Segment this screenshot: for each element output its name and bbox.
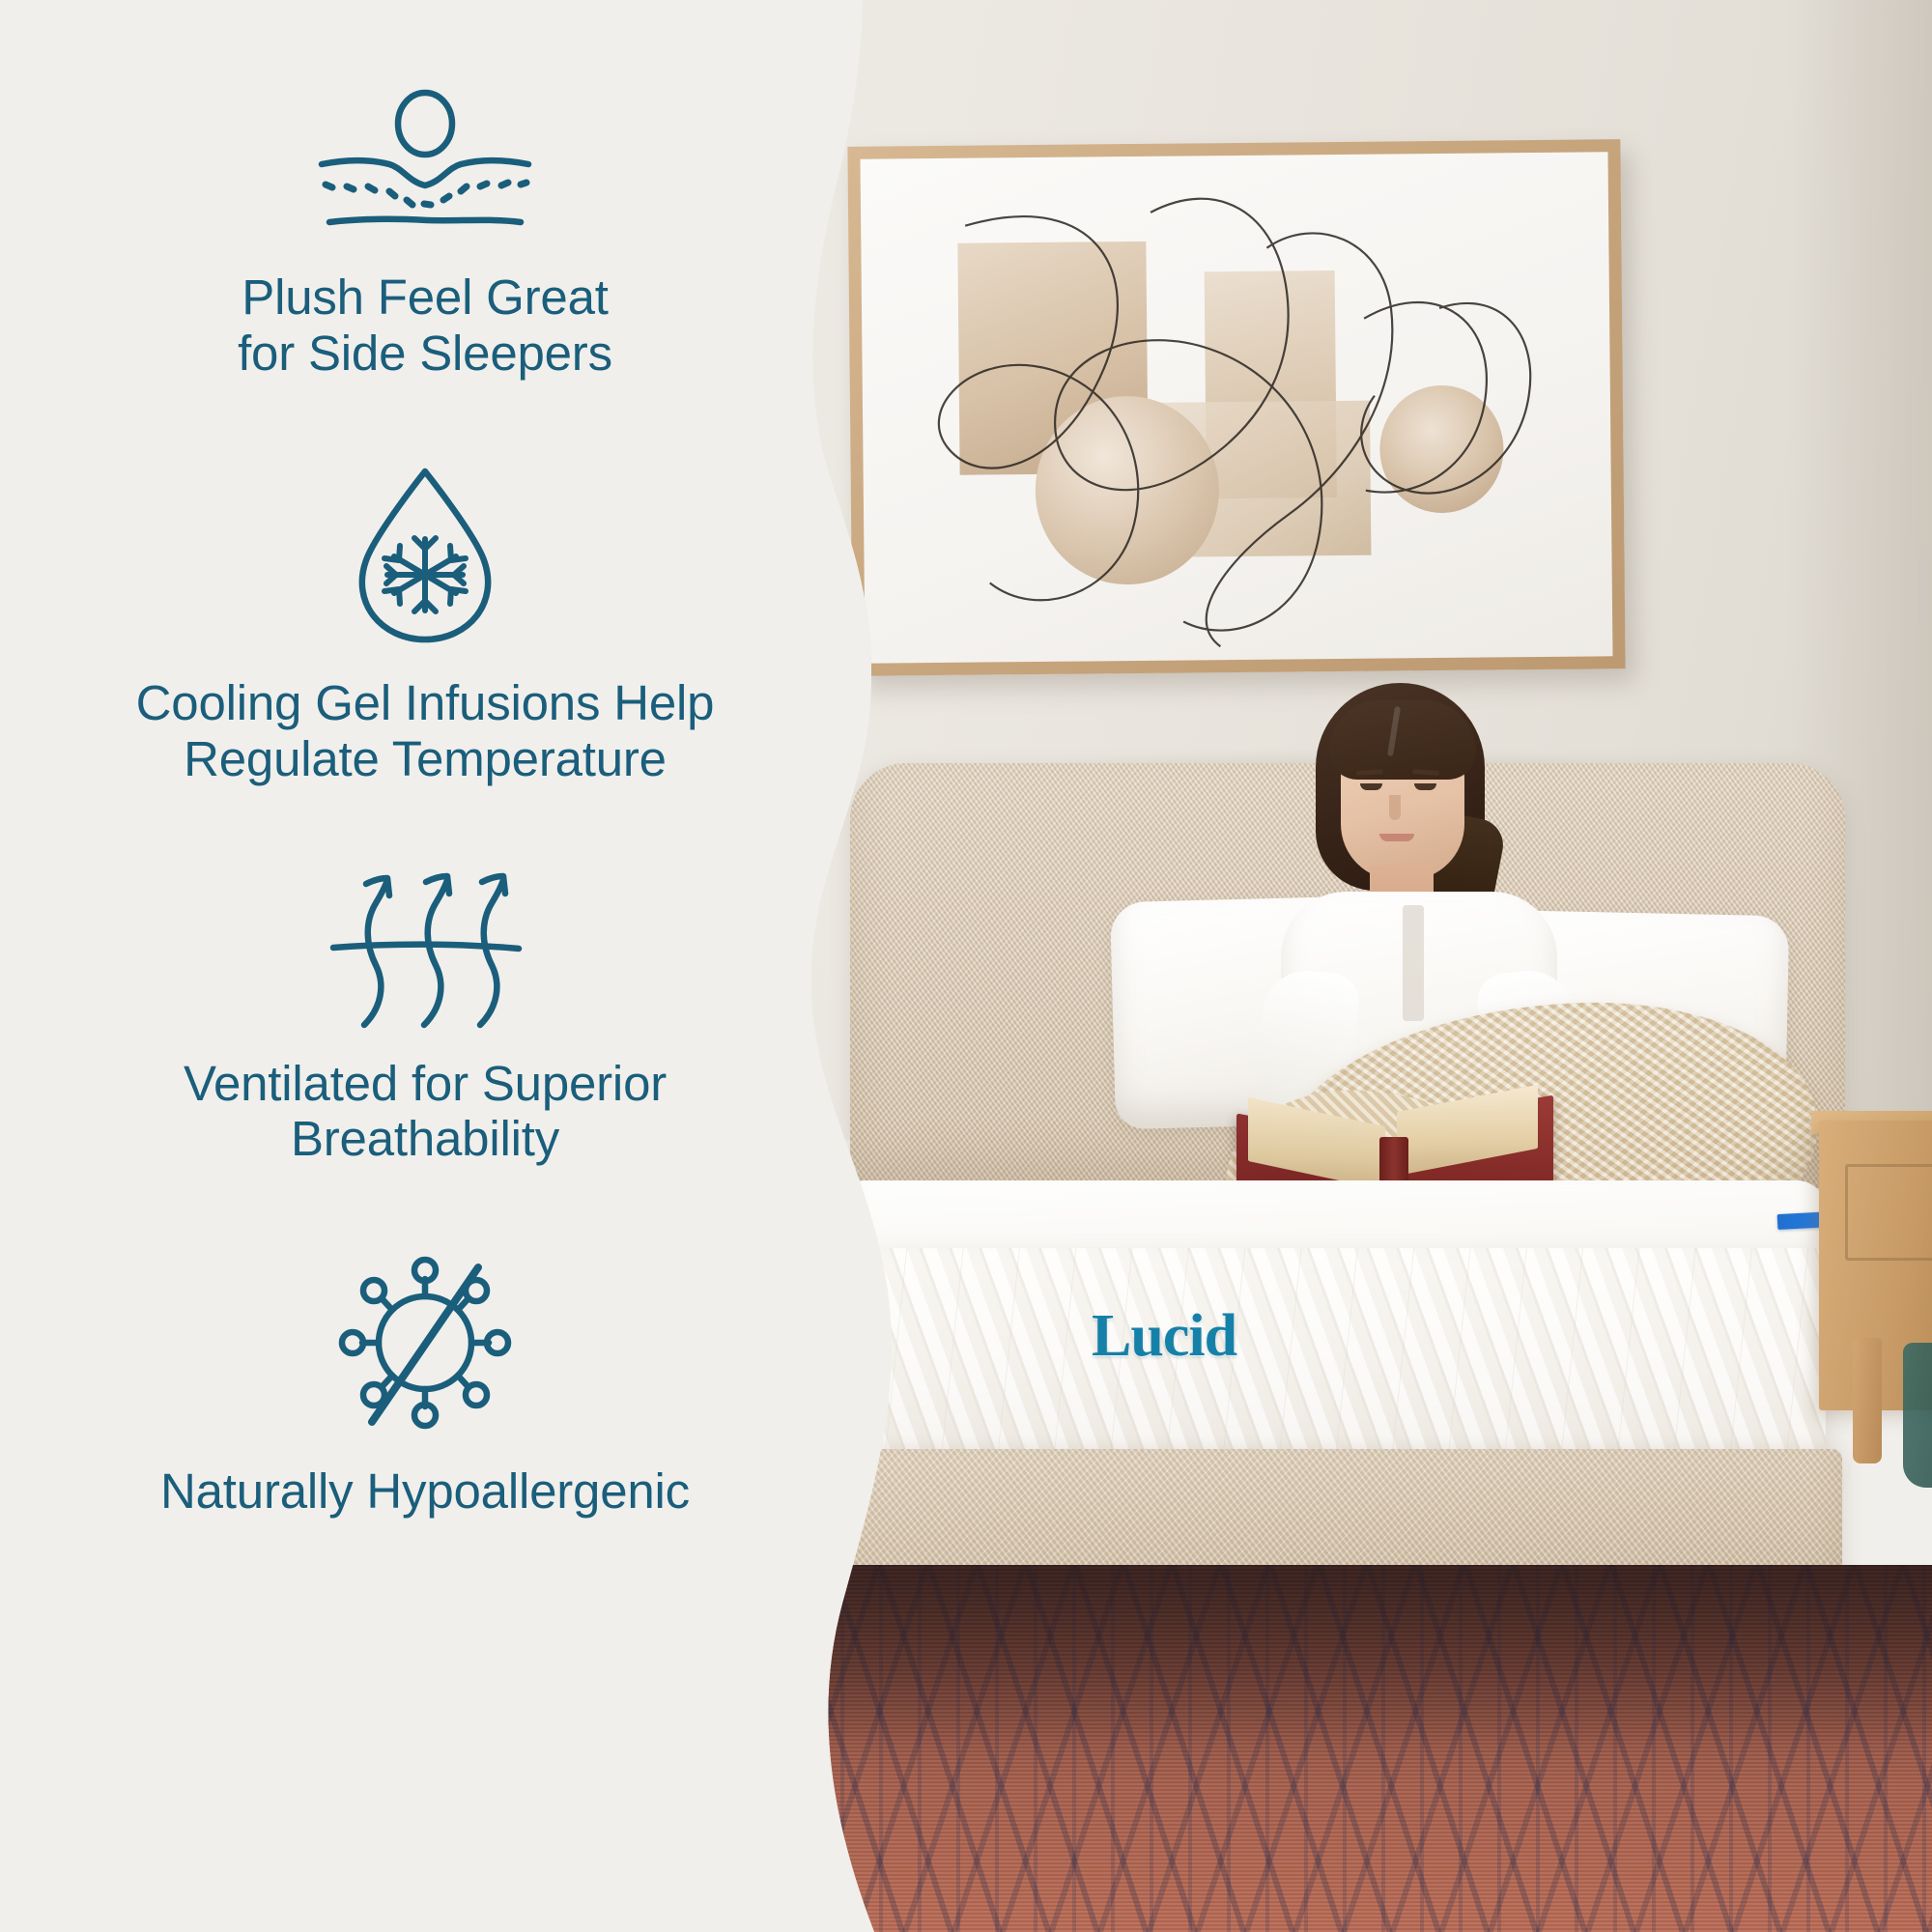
feature-label: Ventilated for Superior Breathability bbox=[184, 1056, 667, 1167]
lucid-logo: Lucid bbox=[1092, 1302, 1236, 1371]
sink-in-mattress-icon bbox=[314, 89, 536, 239]
feature-item-cooling-gel: Cooling Gel Infusions Help Regulate Temp… bbox=[48, 464, 802, 786]
art-mat bbox=[861, 152, 1613, 663]
shirt-placket bbox=[1403, 905, 1424, 1021]
feature-label: Cooling Gel Infusions Help Regulate Temp… bbox=[136, 675, 715, 786]
nightstand-leg bbox=[1853, 1338, 1882, 1463]
feature-item-plush-feel: Plush Feel Great for Side Sleepers bbox=[48, 89, 802, 381]
feature-item-hypoallergenic: Naturally Hypoallergenic bbox=[48, 1246, 802, 1520]
framed-wall-art bbox=[847, 139, 1625, 676]
mattress-front-panel bbox=[850, 1248, 1826, 1468]
product-feature-infographic: Lucid Plush Feel Great bbox=[0, 0, 1932, 1932]
feature-label: Naturally Hypoallergenic bbox=[160, 1463, 690, 1520]
art-scribble-lines bbox=[861, 152, 1613, 663]
nose bbox=[1389, 795, 1401, 820]
rug-shadow bbox=[802, 1565, 1932, 1748]
no-allergen-icon bbox=[331, 1246, 520, 1444]
nightstand-drawer bbox=[1845, 1164, 1932, 1261]
feature-label: Plush Feel Great for Side Sleepers bbox=[238, 270, 612, 381]
cooling-gel-droplet-snowflake-icon bbox=[341, 464, 510, 652]
eye-left bbox=[1360, 783, 1382, 790]
hair-front bbox=[1329, 700, 1476, 780]
eye-right bbox=[1414, 783, 1436, 790]
feature-list: Plush Feel Great for Side Sleepers bbox=[0, 0, 850, 1932]
green-vase bbox=[1903, 1343, 1932, 1488]
mouth bbox=[1379, 834, 1414, 841]
airflow-arrows-icon bbox=[322, 863, 529, 1037]
feature-item-ventilated: Ventilated for Superior Breathability bbox=[48, 863, 802, 1167]
